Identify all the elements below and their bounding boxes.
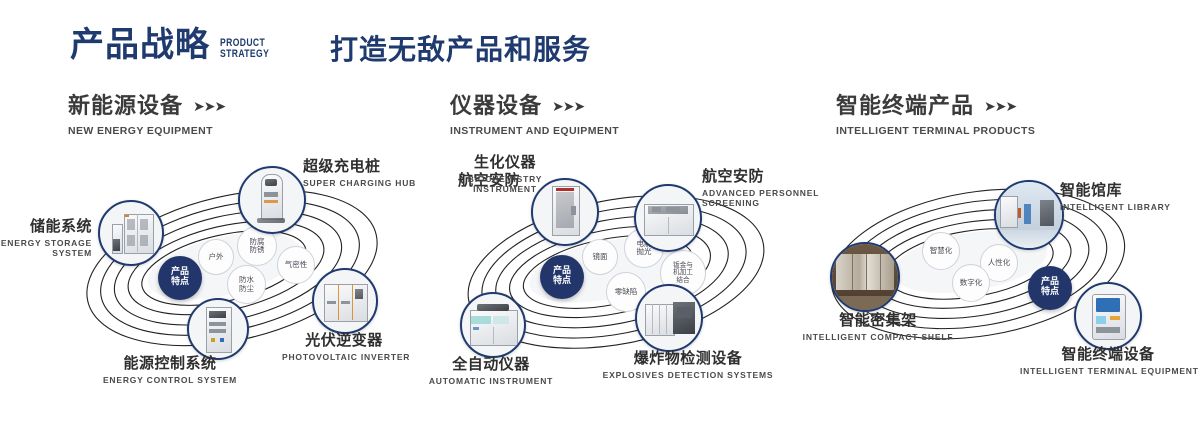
node-intelligent-compact-shelf[interactable] — [830, 242, 900, 312]
feature-bubble-label: 智慧化 — [930, 247, 953, 255]
caption-cn: 航空安防 — [702, 168, 820, 186]
diagram-new-energy: 产品 特点 户外 防腐防锈 防水防尘 气密性 — [40, 150, 440, 390]
caption-explosives-detection-systems: 爆炸物检测设备 EXPLOSIVES DETECTION SYSTEMS — [598, 350, 778, 380]
group-title-en: INSTRUMENT AND EQUIPMENT — [450, 125, 619, 137]
group-title-text: 仪器设备 — [450, 96, 542, 118]
poster-title-en-line2: STRATEGY — [220, 49, 269, 60]
compact-shelf-icon — [832, 244, 898, 310]
feature-bubble-label: 户外 — [209, 253, 224, 261]
caption-cn: 智能终端设备 — [1020, 346, 1196, 364]
caption-energy-storage-system: 储能系统 ENERGY STORAGE SYSTEM — [0, 218, 92, 258]
caption-photovoltaic-inverter: 光伏逆变器 PHOTOVOLTAIC INVERTER — [282, 332, 406, 362]
core-bubble-line2: 特点 — [1041, 288, 1059, 298]
chevron-right-icon: ➤➤➤ — [552, 100, 584, 114]
node-advanced-personnel-screening[interactable] — [634, 184, 702, 252]
caption-intelligent-library: 智能馆库 INTELLIGENT LIBRARY — [1060, 182, 1171, 212]
caption-cn: 智能密集架 — [798, 312, 958, 330]
caption-en: INTELLIGENT TERMINAL EQUIPMENT — [1020, 366, 1196, 376]
inverter-cabinet-icon — [314, 270, 376, 332]
screening-machine-icon — [636, 186, 700, 250]
core-bubble: 产品 特点 — [540, 255, 584, 299]
group-title-en: INTELLIGENT TERMINAL PRODUCTS — [836, 125, 1035, 137]
node-photovoltaic-inverter[interactable] — [312, 268, 378, 334]
node-energy-control-system[interactable] — [187, 298, 249, 360]
feature-bubble: 气密性 — [277, 246, 315, 284]
caption-en: INTELLIGENT LIBRARY — [1060, 202, 1171, 212]
feature-bubble: 镜面 — [582, 239, 618, 275]
group-title-cn: 仪器设备 ➤➤➤ — [450, 96, 619, 118]
group-title-terminal: 智能终端产品 ➤➤➤ INTELLIGENT TERMINAL PRODUCTS — [836, 96, 1035, 137]
feature-bubble-label: 防水防尘 — [236, 276, 258, 292]
caption-en: ENERGY CONTROL SYSTEM — [70, 375, 270, 385]
chevron-right-icon: ➤➤➤ — [193, 100, 225, 114]
core-bubble-line2: 特点 — [171, 278, 189, 288]
node-energy-storage-system[interactable] — [98, 200, 164, 266]
feature-bubble-label: 数字化 — [960, 279, 983, 287]
group-title-text: 新能源设备 — [68, 96, 183, 118]
feature-bubble: 户外 — [198, 239, 234, 275]
control-cabinet-icon — [189, 300, 247, 358]
feature-bubble-label: 零缺陷 — [615, 288, 638, 296]
feature-bubble: 智慧化 — [922, 232, 960, 270]
caption-en: PHOTOVOLTAIC INVERTER — [282, 352, 406, 362]
group-title-instrument: 仪器设备 ➤➤➤ INSTRUMENT AND EQUIPMENT — [450, 96, 619, 137]
feature-bubble-label: 气密性 — [285, 261, 308, 269]
feature-bubble-label: 镜面 — [593, 253, 608, 261]
node-intelligent-library[interactable] — [994, 180, 1064, 250]
diagram-instrument: 产品 特点 镜面 电解抛光 钣金与机加工结合 零缺陷 航空安防 — [420, 150, 820, 390]
explosive-detector-icon — [637, 286, 701, 350]
caption-en: ENERGY STORAGE SYSTEM — [0, 238, 92, 258]
feature-bubble-label: 钣金与机加工结合 — [670, 262, 696, 283]
poster-title-cn: 产品战略 — [70, 28, 210, 62]
caption-en: INTELLIGENT COMPACT SHELF — [798, 332, 958, 342]
feature-bubble-label: 人性化 — [988, 259, 1011, 267]
caption-advanced-personnel-screening: 航空安防 ADVANCED PERSONNEL SCREENING — [702, 168, 820, 208]
caption-cn: 爆炸物检测设备 — [598, 350, 778, 368]
poster-canvas: 产品战略 PRODUCT STRATEGY 打造无敌产品和服务 新能源设备 ➤➤… — [0, 0, 1200, 422]
auto-analyzer-icon — [462, 294, 524, 356]
caption-cn: 光伏逆变器 — [282, 332, 406, 350]
smart-terminal-icon — [1076, 284, 1140, 348]
core-bubble: 产品 特点 — [158, 256, 202, 300]
caption-intelligent-compact-shelf: 智能密集架 INTELLIGENT COMPACT SHELF — [798, 312, 958, 342]
chevron-right-icon: ➤➤➤ — [984, 100, 1016, 114]
node-automatic-instrument[interactable] — [460, 292, 526, 358]
feature-bubble: 数字化 — [952, 264, 990, 302]
core-bubble-line2: 特点 — [553, 277, 571, 287]
caption-energy-control-system: 能源控制系统 ENERGY CONTROL SYSTEM — [70, 355, 270, 385]
caption-cn: 全自动仪器 — [428, 356, 554, 374]
battery-cabinet-icon — [100, 202, 162, 264]
smart-library-icon — [996, 182, 1062, 248]
group-title-new-energy: 新能源设备 ➤➤➤ NEW ENERGY EQUIPMENT — [68, 96, 225, 137]
caption-automatic-instrument: 全自动仪器 AUTOMATIC INSTRUMENT — [428, 356, 554, 386]
poster-subtitle: 打造无敌产品和服务 — [330, 36, 591, 64]
caption-en: ADVANCED PERSONNEL SCREENING — [702, 188, 820, 208]
caption-cn: 能源控制系统 — [70, 355, 270, 373]
caption-en: AUTOMATIC INSTRUMENT — [428, 376, 554, 386]
group-title-en: NEW ENERGY EQUIPMENT — [68, 125, 225, 137]
poster-header: 产品战略 PRODUCT STRATEGY — [70, 28, 283, 62]
caption-cn: 智能馆库 — [1060, 182, 1171, 200]
charging-pile-icon — [240, 168, 304, 232]
group-title-text: 智能终端产品 — [836, 96, 974, 118]
group-title-cn: 新能源设备 ➤➤➤ — [68, 96, 225, 118]
feature-bubble: 防水防尘 — [227, 265, 266, 304]
caption-en: EXPLOSIVES DETECTION SYSTEMS — [598, 370, 778, 380]
node-super-charging-hub[interactable] — [238, 166, 306, 234]
caption-cn: 储能系统 — [0, 218, 92, 236]
node-intelligent-terminal-equipment[interactable] — [1074, 282, 1142, 350]
diagram-terminal: 智慧化 人性化 数字化 产品 特点 智能馆库 INTELLIG — [812, 160, 1200, 400]
feature-bubble-label: 防腐防锈 — [246, 238, 268, 254]
caption-intelligent-terminal-equipment: 智能终端设备 INTELLIGENT TERMINAL EQUIPMENT — [1020, 346, 1196, 376]
poster-title-en: PRODUCT STRATEGY — [220, 38, 269, 60]
caption-cn: 生化仪器 — [440, 154, 570, 172]
core-bubble: 产品 特点 — [1028, 266, 1072, 310]
caption-en: BIOCHEMISTRY INSTRUMENT — [440, 174, 570, 194]
group-title-cn: 智能终端产品 ➤➤➤ — [836, 96, 1035, 118]
caption-biochemistry-instrument: 生化仪器 BIOCHEMISTRY INSTRUMENT — [440, 154, 570, 194]
node-explosives-detection-systems[interactable] — [635, 284, 703, 352]
